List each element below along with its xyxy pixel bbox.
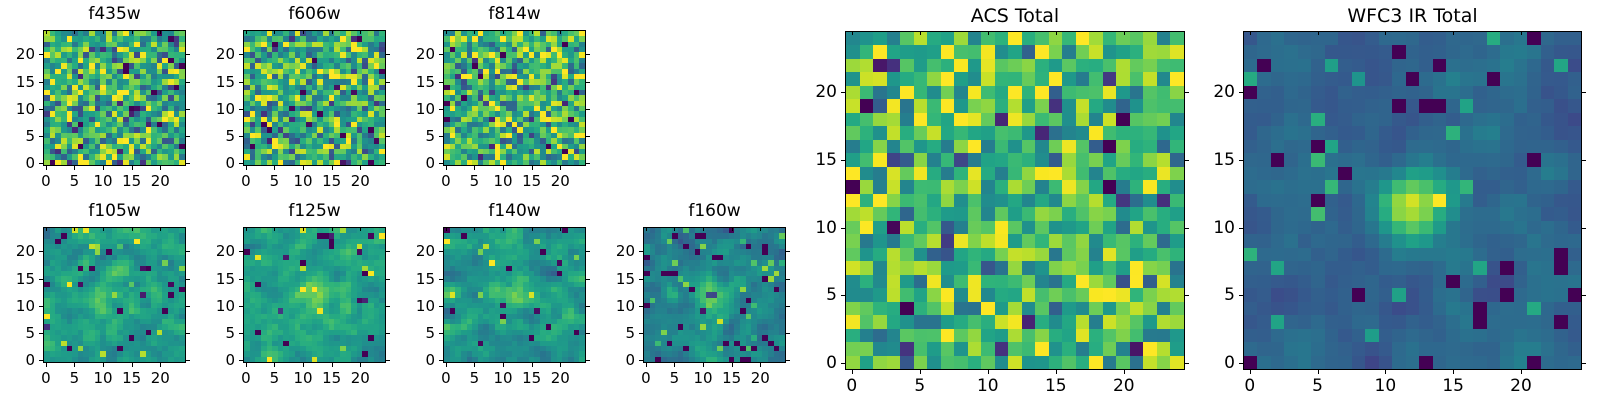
ytick-f125w-5 xyxy=(239,333,243,334)
yticklabel-f140w-15: 15 xyxy=(416,270,435,288)
ytick-right-f160w-15 xyxy=(786,279,790,280)
ytick-f814w-0 xyxy=(439,163,443,164)
ytick-f105w-5 xyxy=(39,333,43,334)
yticklabel-f140w-0: 0 xyxy=(425,351,435,369)
xtick-top-f125w-5 xyxy=(274,227,275,231)
ytick-right-wfc3_ir_total-0 xyxy=(1582,363,1586,364)
ytick-right-f814w-0 xyxy=(586,163,590,164)
xticklabel-wfc3_ir_total-0: 0 xyxy=(1244,376,1255,396)
xtick-f435w-0 xyxy=(46,166,47,170)
heatmap-f160w xyxy=(644,228,785,362)
xticklabel-f125w-15: 15 xyxy=(322,369,341,387)
panel-wfc3_ir_total: WFC3 IR Total0510152005101520 xyxy=(1243,5,1582,400)
panel-f814w: f814w0510152005101520 xyxy=(443,4,586,196)
ytick-right-f435w-15 xyxy=(186,82,190,83)
xtick-f160w-20 xyxy=(760,363,761,367)
ytick-right-f125w-15 xyxy=(386,279,390,280)
heatmap-f606w xyxy=(244,31,385,165)
xticklabel-f125w-20: 20 xyxy=(351,369,370,387)
ytick-right-acs_total-0 xyxy=(1185,363,1189,364)
xtick-f814w-0 xyxy=(446,166,447,170)
ytick-right-f160w-20 xyxy=(786,251,790,252)
yticklabel-f160w-0: 0 xyxy=(625,351,635,369)
ytick-right-f814w-5 xyxy=(586,136,590,137)
xtick-acs_total-20 xyxy=(1124,370,1125,374)
xtick-top-f435w-10 xyxy=(103,30,104,34)
heatmap-f140w xyxy=(444,228,585,362)
ytick-f435w-15 xyxy=(39,82,43,83)
yticklabel-f435w-15: 15 xyxy=(16,73,35,91)
xticklabel-f140w-15: 15 xyxy=(522,369,541,387)
xtick-f140w-0 xyxy=(446,363,447,367)
ytick-f125w-10 xyxy=(239,306,243,307)
yticklabel-f814w-5: 5 xyxy=(425,127,435,145)
ytick-f435w-5 xyxy=(39,136,43,137)
xtick-f606w-10 xyxy=(303,166,304,170)
ytick-right-f606w-15 xyxy=(386,82,390,83)
ytick-f140w-0 xyxy=(439,360,443,361)
ytick-f435w-20 xyxy=(39,54,43,55)
xticklabel-acs_total-10: 10 xyxy=(977,376,999,396)
ytick-right-f606w-20 xyxy=(386,54,390,55)
xtick-f125w-10 xyxy=(303,363,304,367)
xticklabel-f140w-5: 5 xyxy=(470,369,480,387)
yticklabel-f814w-0: 0 xyxy=(425,154,435,172)
panel-f125w: f125w0510152005101520 xyxy=(243,201,386,393)
xtick-acs_total-15 xyxy=(1056,370,1057,374)
xtick-top-f160w-0 xyxy=(646,227,647,231)
xtick-f160w-10 xyxy=(703,363,704,367)
xtick-f125w-0 xyxy=(246,363,247,367)
xtick-f105w-5 xyxy=(74,363,75,367)
axes-f814w xyxy=(443,30,586,166)
xticklabel-f160w-5: 5 xyxy=(670,369,680,387)
xtick-f105w-0 xyxy=(46,363,47,367)
ytick-f160w-15 xyxy=(639,279,643,280)
yticklabel-f140w-20: 20 xyxy=(416,242,435,260)
xtick-f435w-10 xyxy=(103,166,104,170)
yticklabel-f105w-0: 0 xyxy=(25,351,35,369)
axes-f160w xyxy=(643,227,786,363)
yticklabel-f435w-5: 5 xyxy=(25,127,35,145)
xticklabel-f125w-0: 0 xyxy=(241,369,251,387)
axes-f435w xyxy=(43,30,186,166)
yticklabel-acs_total-10: 10 xyxy=(815,218,837,238)
ytick-right-f125w-0 xyxy=(386,360,390,361)
xtick-top-acs_total-5 xyxy=(920,31,921,35)
panel-f160w: f160w0510152005101520 xyxy=(643,201,786,393)
xticklabel-f435w-10: 10 xyxy=(94,172,113,190)
ytick-f140w-5 xyxy=(439,333,443,334)
yticklabel-f105w-10: 10 xyxy=(16,297,35,315)
panel-title-f125w: f125w xyxy=(243,201,386,221)
xtick-f160w-5 xyxy=(674,363,675,367)
xtick-top-f606w-20 xyxy=(360,30,361,34)
xtick-top-f435w-5 xyxy=(74,30,75,34)
xtick-top-f160w-15 xyxy=(732,227,733,231)
xticklabel-f105w-5: 5 xyxy=(70,369,80,387)
xtick-f125w-5 xyxy=(274,363,275,367)
heatmap-f435w xyxy=(44,31,185,165)
xticklabel-f160w-0: 0 xyxy=(641,369,651,387)
xtick-f814w-20 xyxy=(560,166,561,170)
yticklabel-f140w-5: 5 xyxy=(425,324,435,342)
xtick-f435w-20 xyxy=(160,166,161,170)
xticklabel-f140w-10: 10 xyxy=(494,369,513,387)
ytick-f606w-0 xyxy=(239,163,243,164)
ytick-right-f814w-15 xyxy=(586,82,590,83)
panel-title-f140w: f140w xyxy=(443,201,586,221)
xtick-top-f125w-15 xyxy=(332,227,333,231)
yticklabel-f160w-20: 20 xyxy=(616,242,635,260)
ytick-right-f435w-5 xyxy=(186,136,190,137)
ytick-right-f125w-20 xyxy=(386,251,390,252)
yticklabel-f125w-5: 5 xyxy=(225,324,235,342)
panel-title-wfc3_ir_total: WFC3 IR Total xyxy=(1243,5,1582,27)
xtick-top-f606w-15 xyxy=(332,30,333,34)
panel-acs_total: ACS Total0510152005101520 xyxy=(845,5,1185,400)
ytick-right-f140w-10 xyxy=(586,306,590,307)
ytick-acs_total-0 xyxy=(841,363,845,364)
xtick-acs_total-5 xyxy=(920,370,921,374)
yticklabel-f435w-20: 20 xyxy=(16,45,35,63)
xticklabel-f125w-5: 5 xyxy=(270,369,280,387)
xtick-top-f105w-10 xyxy=(103,227,104,231)
xtick-f125w-20 xyxy=(360,363,361,367)
yticklabel-f606w-10: 10 xyxy=(216,100,235,118)
xticklabel-f606w-5: 5 xyxy=(270,172,280,190)
ytick-right-f435w-0 xyxy=(186,163,190,164)
xtick-f140w-20 xyxy=(560,363,561,367)
xtick-f606w-5 xyxy=(274,166,275,170)
xticklabel-f140w-0: 0 xyxy=(441,369,451,387)
ytick-f814w-15 xyxy=(439,82,443,83)
ytick-f125w-15 xyxy=(239,279,243,280)
xticklabel-f105w-0: 0 xyxy=(41,369,51,387)
yticklabel-wfc3_ir_total-10: 10 xyxy=(1213,218,1235,238)
ytick-f606w-20 xyxy=(239,54,243,55)
ytick-f814w-5 xyxy=(439,136,443,137)
xtick-top-f140w-20 xyxy=(560,227,561,231)
panel-title-f606w: f606w xyxy=(243,4,386,24)
ytick-f160w-0 xyxy=(639,360,643,361)
ytick-wfc3_ir_total-20 xyxy=(1239,92,1243,93)
heatmap-f125w xyxy=(244,228,385,362)
ytick-f125w-0 xyxy=(239,360,243,361)
xtick-top-f105w-15 xyxy=(132,227,133,231)
yticklabel-f435w-0: 0 xyxy=(25,154,35,172)
xtick-top-wfc3_ir_total-15 xyxy=(1453,31,1454,35)
xtick-top-f814w-5 xyxy=(474,30,475,34)
xtick-top-f814w-0 xyxy=(446,30,447,34)
xtick-top-f435w-15 xyxy=(132,30,133,34)
yticklabel-acs_total-5: 5 xyxy=(826,285,837,305)
xtick-f606w-20 xyxy=(360,166,361,170)
xtick-top-f140w-5 xyxy=(474,227,475,231)
xtick-top-f814w-20 xyxy=(560,30,561,34)
ytick-wfc3_ir_total-10 xyxy=(1239,228,1243,229)
yticklabel-f160w-10: 10 xyxy=(616,297,635,315)
axes-f105w xyxy=(43,227,186,363)
ytick-f814w-20 xyxy=(439,54,443,55)
xticklabel-f125w-10: 10 xyxy=(294,369,313,387)
ytick-f160w-10 xyxy=(639,306,643,307)
xtick-top-f435w-20 xyxy=(160,30,161,34)
ytick-right-acs_total-5 xyxy=(1185,295,1189,296)
panel-title-f160w: f160w xyxy=(643,201,786,221)
ytick-wfc3_ir_total-15 xyxy=(1239,160,1243,161)
panel-title-acs_total: ACS Total xyxy=(845,5,1185,27)
ytick-right-f140w-20 xyxy=(586,251,590,252)
yticklabel-acs_total-20: 20 xyxy=(815,82,837,102)
xtick-acs_total-10 xyxy=(988,370,989,374)
ytick-right-f814w-10 xyxy=(586,109,590,110)
xticklabel-f814w-10: 10 xyxy=(494,172,513,190)
panel-f140w: f140w0510152005101520 xyxy=(443,201,586,393)
ytick-right-f140w-5 xyxy=(586,333,590,334)
ytick-f606w-10 xyxy=(239,109,243,110)
yticklabel-f105w-5: 5 xyxy=(25,324,35,342)
xticklabel-acs_total-0: 0 xyxy=(846,376,857,396)
xtick-top-f606w-0 xyxy=(246,30,247,34)
ytick-right-wfc3_ir_total-15 xyxy=(1582,160,1586,161)
panel-title-f435w: f435w xyxy=(43,4,186,24)
ytick-acs_total-5 xyxy=(841,295,845,296)
ytick-right-f105w-5 xyxy=(186,333,190,334)
yticklabel-f606w-0: 0 xyxy=(225,154,235,172)
ytick-right-acs_total-10 xyxy=(1185,228,1189,229)
ytick-right-f435w-10 xyxy=(186,109,190,110)
xtick-f814w-15 xyxy=(532,166,533,170)
ytick-right-f160w-0 xyxy=(786,360,790,361)
xtick-top-f125w-0 xyxy=(246,227,247,231)
ytick-acs_total-15 xyxy=(841,160,845,161)
ytick-right-f606w-5 xyxy=(386,136,390,137)
ytick-right-wfc3_ir_total-10 xyxy=(1582,228,1586,229)
panel-f606w: f606w0510152005101520 xyxy=(243,4,386,196)
ytick-acs_total-20 xyxy=(841,92,845,93)
xtick-f814w-10 xyxy=(503,166,504,170)
ytick-right-f125w-10 xyxy=(386,306,390,307)
xtick-top-acs_total-15 xyxy=(1056,31,1057,35)
xticklabel-acs_total-15: 15 xyxy=(1045,376,1067,396)
xtick-top-f814w-15 xyxy=(532,30,533,34)
yticklabel-f160w-15: 15 xyxy=(616,270,635,288)
yticklabel-f125w-20: 20 xyxy=(216,242,235,260)
ytick-f105w-15 xyxy=(39,279,43,280)
ytick-right-f160w-5 xyxy=(786,333,790,334)
xtick-acs_total-0 xyxy=(852,370,853,374)
ytick-f140w-20 xyxy=(439,251,443,252)
panel-f435w: f435w0510152005101520 xyxy=(43,4,186,196)
panel-title-f105w: f105w xyxy=(43,201,186,221)
xtick-top-f140w-0 xyxy=(446,227,447,231)
ytick-right-f105w-10 xyxy=(186,306,190,307)
xtick-wfc3_ir_total-15 xyxy=(1453,370,1454,374)
xticklabel-acs_total-20: 20 xyxy=(1113,376,1135,396)
yticklabel-wfc3_ir_total-15: 15 xyxy=(1213,150,1235,170)
xtick-top-acs_total-0 xyxy=(852,31,853,35)
xticklabel-f140w-20: 20 xyxy=(551,369,570,387)
ytick-right-f125w-5 xyxy=(386,333,390,334)
xticklabel-acs_total-5: 5 xyxy=(914,376,925,396)
ytick-f105w-20 xyxy=(39,251,43,252)
axes-f125w xyxy=(243,227,386,363)
ytick-f140w-10 xyxy=(439,306,443,307)
xtick-f814w-5 xyxy=(474,166,475,170)
heatmap-wfc3_ir_total xyxy=(1244,32,1581,369)
yticklabel-wfc3_ir_total-5: 5 xyxy=(1224,285,1235,305)
ytick-f435w-0 xyxy=(39,163,43,164)
yticklabel-f606w-5: 5 xyxy=(225,127,235,145)
xticklabel-f606w-0: 0 xyxy=(241,172,251,190)
xtick-f606w-0 xyxy=(246,166,247,170)
ytick-right-f606w-10 xyxy=(386,109,390,110)
xticklabel-f606w-15: 15 xyxy=(322,172,341,190)
yticklabel-wfc3_ir_total-20: 20 xyxy=(1213,82,1235,102)
xticklabel-f105w-15: 15 xyxy=(122,369,141,387)
xtick-top-f160w-20 xyxy=(760,227,761,231)
axes-f606w xyxy=(243,30,386,166)
panel-f105w: f105w0510152005101520 xyxy=(43,201,186,393)
axes-acs_total xyxy=(845,31,1185,370)
ytick-right-f105w-15 xyxy=(186,279,190,280)
xtick-top-f140w-15 xyxy=(532,227,533,231)
figure-canvas: f435w0510152005101520f606w05101520051015… xyxy=(0,0,1600,400)
xticklabel-f435w-5: 5 xyxy=(70,172,80,190)
xtick-top-f105w-0 xyxy=(46,227,47,231)
yticklabel-f140w-10: 10 xyxy=(416,297,435,315)
xtick-f606w-15 xyxy=(332,166,333,170)
ytick-right-f140w-15 xyxy=(586,279,590,280)
xticklabel-wfc3_ir_total-10: 10 xyxy=(1375,376,1397,396)
xticklabel-f160w-10: 10 xyxy=(694,369,713,387)
xtick-f140w-10 xyxy=(503,363,504,367)
yticklabel-f606w-15: 15 xyxy=(216,73,235,91)
ytick-wfc3_ir_total-5 xyxy=(1239,295,1243,296)
ytick-right-wfc3_ir_total-5 xyxy=(1582,295,1586,296)
yticklabel-f814w-20: 20 xyxy=(416,45,435,63)
heatmap-f105w xyxy=(44,228,185,362)
xticklabel-f435w-0: 0 xyxy=(41,172,51,190)
ytick-right-f105w-20 xyxy=(186,251,190,252)
axes-wfc3_ir_total xyxy=(1243,31,1582,370)
ytick-right-f105w-0 xyxy=(186,360,190,361)
xtick-f140w-15 xyxy=(532,363,533,367)
xtick-top-f105w-5 xyxy=(74,227,75,231)
xticklabel-f814w-0: 0 xyxy=(441,172,451,190)
xtick-f435w-15 xyxy=(132,166,133,170)
xtick-wfc3_ir_total-10 xyxy=(1385,370,1386,374)
ytick-right-wfc3_ir_total-20 xyxy=(1582,92,1586,93)
yticklabel-acs_total-15: 15 xyxy=(815,150,837,170)
xticklabel-f606w-10: 10 xyxy=(294,172,313,190)
ytick-right-f435w-20 xyxy=(186,54,190,55)
axes-f140w xyxy=(443,227,586,363)
xtick-f105w-10 xyxy=(103,363,104,367)
yticklabel-f105w-15: 15 xyxy=(16,270,35,288)
xtick-f435w-5 xyxy=(74,166,75,170)
xtick-top-f160w-5 xyxy=(674,227,675,231)
ytick-f125w-20 xyxy=(239,251,243,252)
xticklabel-f105w-20: 20 xyxy=(151,369,170,387)
xtick-top-f125w-10 xyxy=(303,227,304,231)
xtick-wfc3_ir_total-20 xyxy=(1521,370,1522,374)
yticklabel-f814w-10: 10 xyxy=(416,100,435,118)
xtick-f160w-15 xyxy=(732,363,733,367)
xtick-f140w-5 xyxy=(474,363,475,367)
yticklabel-wfc3_ir_total-0: 0 xyxy=(1224,353,1235,373)
ytick-right-f606w-0 xyxy=(386,163,390,164)
xtick-top-wfc3_ir_total-10 xyxy=(1385,31,1386,35)
yticklabel-f105w-20: 20 xyxy=(16,242,35,260)
xtick-top-f160w-10 xyxy=(703,227,704,231)
xticklabel-f814w-15: 15 xyxy=(522,172,541,190)
yticklabel-f814w-15: 15 xyxy=(416,73,435,91)
xtick-f105w-15 xyxy=(132,363,133,367)
ytick-f140w-15 xyxy=(439,279,443,280)
xtick-top-f435w-0 xyxy=(46,30,47,34)
xticklabel-f606w-20: 20 xyxy=(351,172,370,190)
xtick-top-f140w-10 xyxy=(503,227,504,231)
xticklabel-wfc3_ir_total-15: 15 xyxy=(1442,376,1464,396)
xticklabel-f160w-15: 15 xyxy=(722,369,741,387)
xtick-top-f606w-10 xyxy=(303,30,304,34)
heatmap-acs_total xyxy=(846,32,1184,369)
xtick-f125w-15 xyxy=(332,363,333,367)
yticklabel-f435w-10: 10 xyxy=(16,100,35,118)
yticklabel-f160w-5: 5 xyxy=(625,324,635,342)
xtick-f105w-20 xyxy=(160,363,161,367)
xtick-top-acs_total-10 xyxy=(988,31,989,35)
ytick-f606w-5 xyxy=(239,136,243,137)
yticklabel-f125w-0: 0 xyxy=(225,351,235,369)
xtick-top-wfc3_ir_total-0 xyxy=(1250,31,1251,35)
xticklabel-f435w-20: 20 xyxy=(151,172,170,190)
xticklabel-f435w-15: 15 xyxy=(122,172,141,190)
yticklabel-acs_total-0: 0 xyxy=(826,353,837,373)
xtick-wfc3_ir_total-0 xyxy=(1250,370,1251,374)
xticklabel-f160w-20: 20 xyxy=(751,369,770,387)
xtick-top-f105w-20 xyxy=(160,227,161,231)
ytick-right-acs_total-15 xyxy=(1185,160,1189,161)
ytick-f606w-15 xyxy=(239,82,243,83)
ytick-f160w-20 xyxy=(639,251,643,252)
ytick-f160w-5 xyxy=(639,333,643,334)
xticklabel-f105w-10: 10 xyxy=(94,369,113,387)
xtick-top-f814w-10 xyxy=(503,30,504,34)
ytick-right-f814w-20 xyxy=(586,54,590,55)
ytick-right-acs_total-20 xyxy=(1185,92,1189,93)
xticklabel-wfc3_ir_total-20: 20 xyxy=(1510,376,1532,396)
ytick-right-f160w-10 xyxy=(786,306,790,307)
xtick-wfc3_ir_total-5 xyxy=(1318,370,1319,374)
ytick-f105w-0 xyxy=(39,360,43,361)
ytick-f105w-10 xyxy=(39,306,43,307)
ytick-f435w-10 xyxy=(39,109,43,110)
yticklabel-f125w-15: 15 xyxy=(216,270,235,288)
xtick-top-f606w-5 xyxy=(274,30,275,34)
xticklabel-f814w-20: 20 xyxy=(551,172,570,190)
ytick-f814w-10 xyxy=(439,109,443,110)
xticklabel-f814w-5: 5 xyxy=(470,172,480,190)
xtick-top-f125w-20 xyxy=(360,227,361,231)
panel-title-f814w: f814w xyxy=(443,4,586,24)
ytick-right-f140w-0 xyxy=(586,360,590,361)
xtick-f160w-0 xyxy=(646,363,647,367)
yticklabel-f606w-20: 20 xyxy=(216,45,235,63)
xticklabel-wfc3_ir_total-5: 5 xyxy=(1312,376,1323,396)
